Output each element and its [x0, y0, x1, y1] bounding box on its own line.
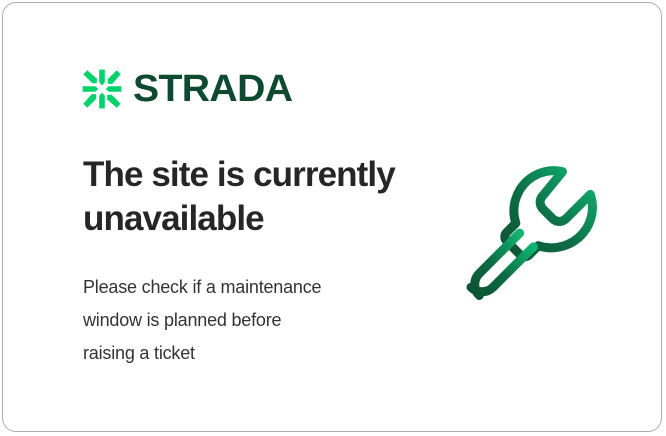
page-title: The site is currently unavailable	[83, 153, 423, 241]
error-card: STRADA The site is currently unavailable…	[2, 2, 662, 432]
description-line: Please check if a maintenance	[83, 271, 393, 304]
description-line: raising a ticket	[83, 337, 393, 370]
brand-wordmark: STRADA	[133, 70, 292, 108]
brand-lockup: STRADA	[82, 69, 288, 109]
wrench-illustration	[458, 155, 618, 311]
wrench-icon	[458, 155, 618, 311]
strada-asterisk-icon	[82, 69, 122, 109]
description-line: window is planned before	[83, 304, 393, 337]
page-description: Please check if a maintenance window is …	[83, 271, 393, 370]
